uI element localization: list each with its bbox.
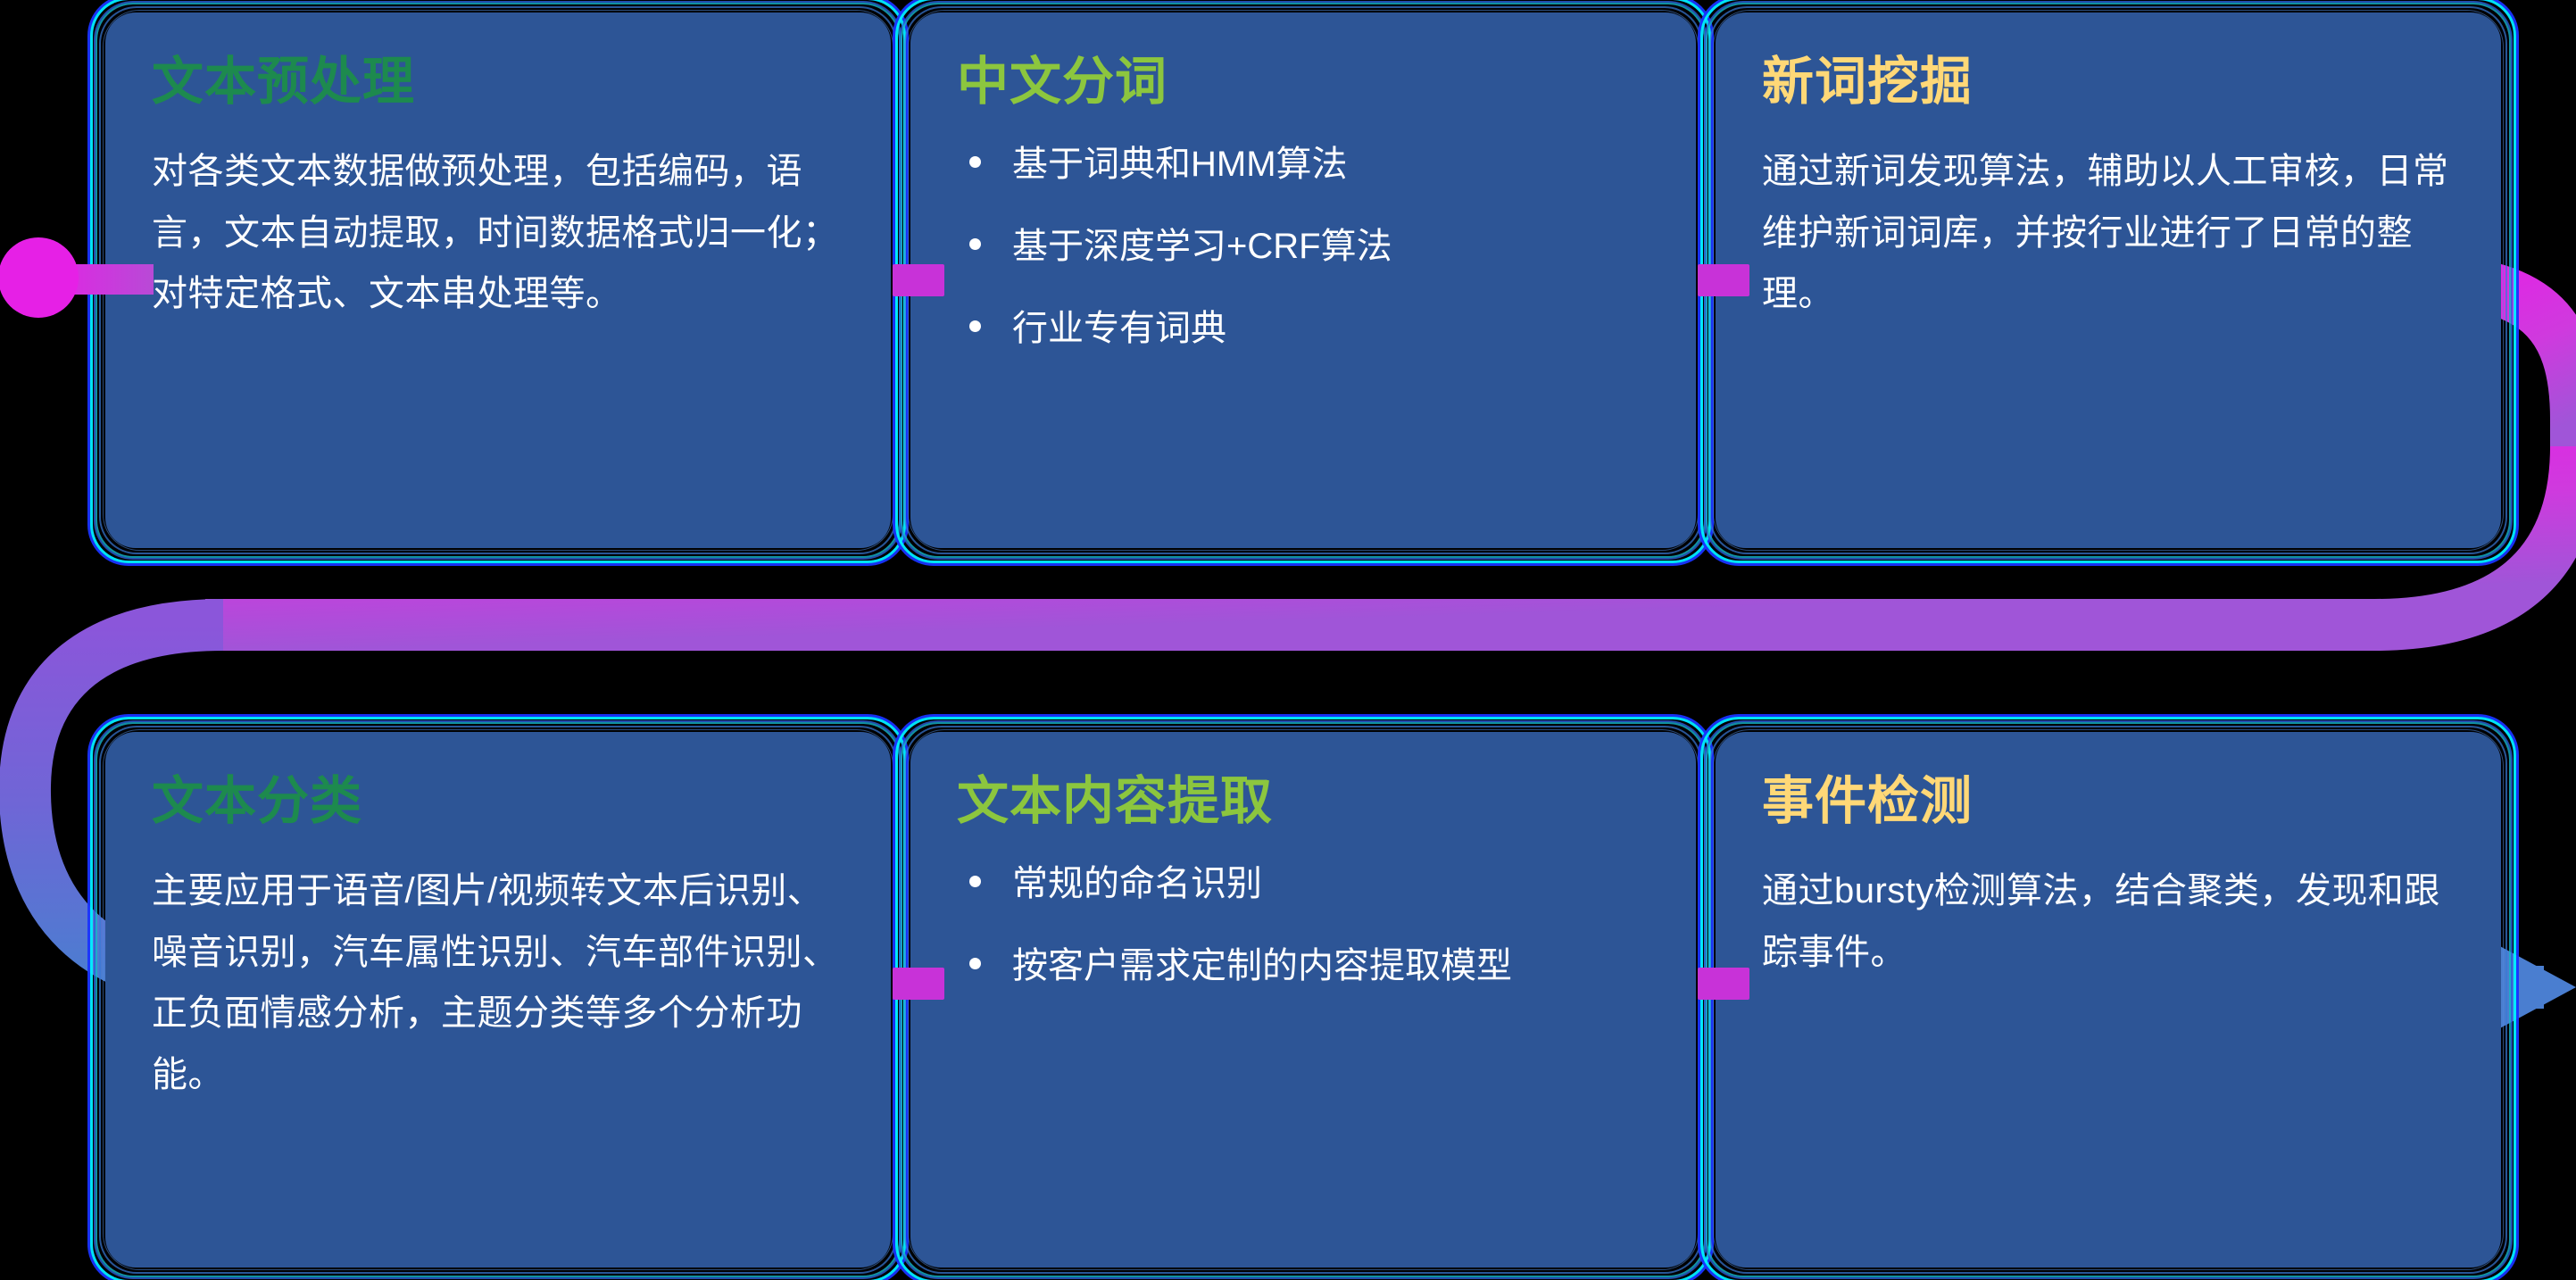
card-row-bottom: 文本分类 主要应用于语音/图片/视频转文本后识别、噪音识别，汽车属性识别、汽车部… (105, 732, 2497, 1268)
card-paragraph: 主要应用于语音/图片/视频转文本后识别、噪音识别，汽车属性识别、汽车部件识别、正… (152, 860, 844, 1106)
list-item: 常规的命名识别 (957, 860, 1649, 907)
card-text-classification[interactable]: 文本分类 主要应用于语音/图片/视频转文本后识别、噪音识别，汽车属性识别、汽车部… (105, 732, 891, 1268)
connector-stub-1 (893, 264, 944, 296)
card-surface: 文本内容提取 常规的命名识别 按客户需求定制的内容提取模型 (910, 732, 1696, 1268)
card-new-word-mining[interactable]: 新词挖掘 通过新词发现算法，辅助以人工审核，日常维护新词词库，并按行业进行了日常… (1716, 12, 2501, 548)
connector-stub-4 (1698, 968, 1749, 1000)
list-item: 按客户需求定制的内容提取模型 (957, 943, 1649, 989)
card-surface: 中文分词 基于词典和HMM算法 基于深度学习+CRF算法 行业专有词典 (910, 12, 1696, 548)
card-text-preprocessing[interactable]: 文本预处理 对各类文本数据做预处理，包括编码，语言，文本自动提取，时间数据格式归… (105, 12, 891, 548)
infographic-canvas: 文本预处理 对各类文本数据做预处理，包括编码，语言，文本自动提取，时间数据格式归… (0, 0, 2576, 1277)
card-title: 新词挖掘 (1762, 54, 2455, 111)
card-row-top: 文本预处理 对各类文本数据做预处理，包括编码，语言，文本自动提取，时间数据格式归… (105, 12, 2497, 548)
card-chinese-word-segmentation[interactable]: 中文分词 基于词典和HMM算法 基于深度学习+CRF算法 行业专有词典 (910, 12, 1696, 548)
card-text-content-extraction[interactable]: 文本内容提取 常规的命名识别 按客户需求定制的内容提取模型 (910, 732, 1696, 1268)
card-surface: 新词挖掘 通过新词发现算法，辅助以人工审核，日常维护新词词库，并按行业进行了日常… (1716, 12, 2501, 548)
card-title: 文本内容提取 (957, 773, 1649, 830)
card-title: 文本分类 (152, 773, 844, 830)
card-surface: 文本分类 主要应用于语音/图片/视频转文本后识别、噪音识别，汽车属性识别、汽车部… (105, 732, 891, 1268)
card-surface: 文本预处理 对各类文本数据做预处理，包括编码，语言，文本自动提取，时间数据格式归… (105, 12, 891, 548)
card-title: 中文分词 (957, 54, 1649, 111)
connector-stub-3 (893, 968, 944, 1000)
card-bullet-list: 常规的命名识别 按客户需求定制的内容提取模型 (957, 860, 1649, 989)
card-paragraph: 通过bursty检测算法，结合聚类，发现和跟踪事件。 (1762, 860, 2455, 984)
card-surface: 事件检测 通过bursty检测算法，结合聚类，发现和跟踪事件。 (1716, 732, 2501, 1268)
card-bullet-list: 基于词典和HMM算法 基于深度学习+CRF算法 行业专有词典 (957, 141, 1649, 352)
card-event-detection[interactable]: 事件检测 通过bursty检测算法，结合聚类，发现和跟踪事件。 (1716, 732, 2501, 1268)
list-item: 基于深度学习+CRF算法 (957, 223, 1649, 270)
card-title: 文本预处理 (152, 54, 844, 111)
card-title: 事件检测 (1762, 773, 2455, 830)
list-item: 行业专有词典 (957, 305, 1649, 352)
connector-stub-2 (1698, 264, 1749, 296)
list-item: 基于词典和HMM算法 (957, 141, 1649, 187)
card-paragraph: 通过新词发现算法，辅助以人工审核，日常维护新词词库，并按行业进行了日常的整理。 (1762, 141, 2455, 325)
card-paragraph: 对各类文本数据做预处理，包括编码，语言，文本自动提取，时间数据格式归一化；对特定… (152, 141, 844, 325)
flow-start-circle (0, 237, 79, 318)
